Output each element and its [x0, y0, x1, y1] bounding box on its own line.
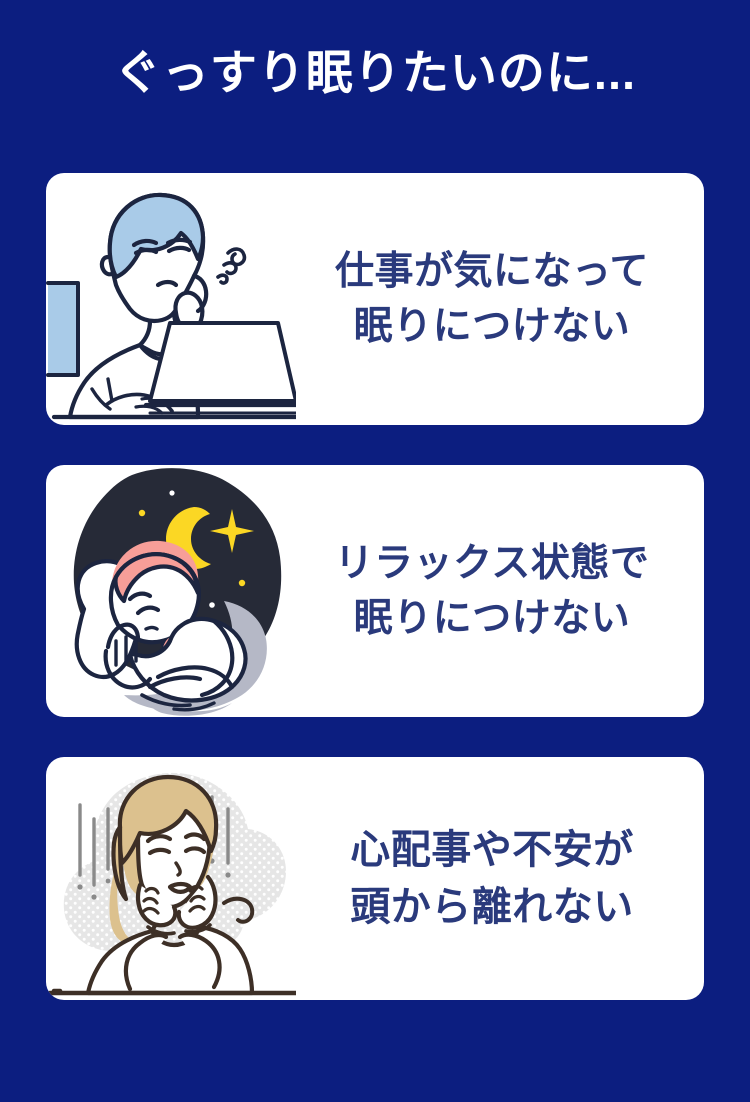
problem-card-3: 心配事や不安が 頭から離れない	[46, 757, 704, 1000]
man-worried-at-laptop-illustration	[46, 173, 296, 425]
problem-card-2-text: リラックス状態で 眠りにつけない	[296, 536, 704, 647]
problem-card-3-line2: 頭から離れない	[296, 879, 688, 936]
problem-card-3-text: 心配事や不安が 頭から離れない	[296, 822, 704, 936]
person-sleeping-night-sky-illustration	[46, 465, 296, 717]
page-root: ぐっすり眠りたいのに...	[0, 0, 750, 1102]
page-title: ぐっすり眠りたいのに...	[0, 46, 750, 100]
woman-anxious-head-in-hands-illustration	[46, 757, 296, 1000]
problem-card-2-line2: 眠りにつけない	[296, 591, 688, 646]
problem-card-1-text: 仕事が気になって 眠りにつけない	[296, 244, 704, 355]
problem-card-1-line1: 仕事が気になって	[296, 244, 688, 299]
problem-card-1: 仕事が気になって 眠りにつけない	[46, 173, 704, 425]
problem-card-2: リラックス状態で 眠りにつけない	[46, 465, 704, 717]
problem-card-2-line1: リラックス状態で	[296, 536, 688, 591]
problem-card-1-line2: 眠りにつけない	[296, 299, 688, 354]
problem-card-3-line1: 心配事や不安が	[296, 822, 688, 879]
